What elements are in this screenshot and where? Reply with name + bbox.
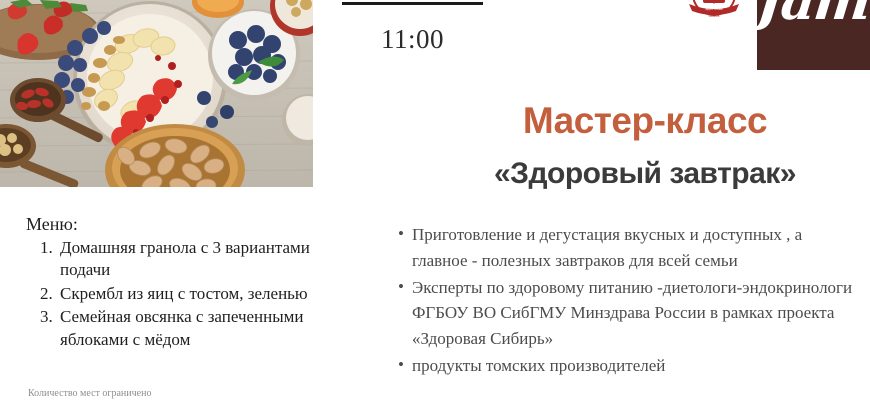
menu-list: Домашняя гранола с 3 вариантами подачи С… xyxy=(26,237,356,351)
menu-fineprint: Количество мест ограничено xyxy=(28,388,328,399)
page-subtitle: «Здоровый завтрак» xyxy=(420,157,870,191)
highlights-list: Приготовление и дегустация вкусных и дос… xyxy=(398,222,860,380)
breakfast-photo xyxy=(0,0,313,187)
list-item: Семейная овсянка с запеченными яблоками … xyxy=(60,306,356,351)
list-item: Скрембл из яиц с тостом, зеленью xyxy=(60,283,356,305)
jam-brand-box: Jam xyxy=(757,0,870,70)
svg-text:СИБИРЬ: СИБИРЬ xyxy=(709,14,720,18)
list-item: Приготовление и дегустация вкусных и дос… xyxy=(398,222,860,274)
crest-logo-icon: ЗДОРОВЬЕ СИБИРЬ xyxy=(683,0,745,26)
menu-section: Меню: Домашняя гранола с 3 вариантами по… xyxy=(26,214,356,352)
svg-text:ЗДОРОВЬЕ: ЗДОРОВЬЕ xyxy=(705,7,723,11)
jam-brand-text: Jam xyxy=(757,0,870,32)
event-time: 11:00 xyxy=(342,24,483,55)
list-item: продукты томских производителей xyxy=(398,353,860,379)
time-divider-rule xyxy=(342,2,483,5)
poster-canvas: 11:00 ЗДОРОВЬЕ СИБИРЬ Jam Мастер-класс «… xyxy=(0,0,870,400)
menu-heading: Меню: xyxy=(26,214,356,235)
list-item: Домашняя гранола с 3 вариантами подачи xyxy=(60,237,356,282)
list-item: Эксперты по здоровому питанию -диетологи… xyxy=(398,275,860,352)
page-title: Мастер-класс xyxy=(420,100,870,142)
